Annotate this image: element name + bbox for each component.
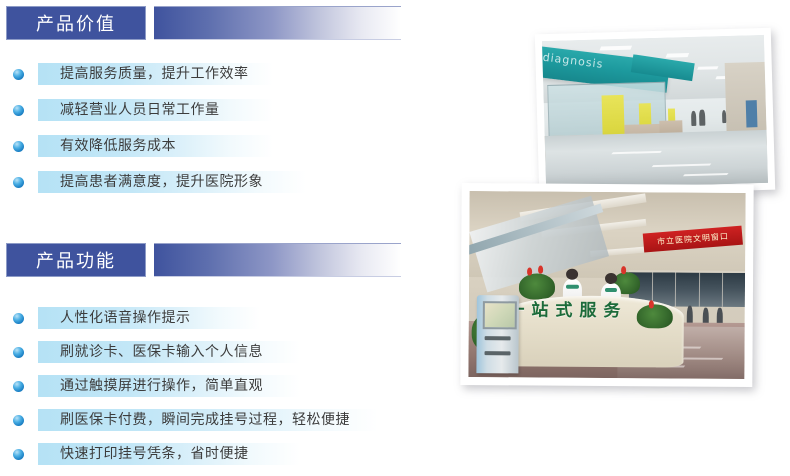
section-header-product-value: 产品价值 [6, 6, 401, 40]
kiosk-card-slot[interactable] [484, 336, 511, 340]
window-divider [722, 273, 723, 306]
kiosk-screen[interactable] [483, 302, 517, 330]
section-title-box-product-function: 产品功能 [6, 243, 146, 277]
bullet-row: 有效降低服务成本 [0, 135, 306, 157]
lobby-flower [621, 266, 626, 274]
lobby-flower [527, 268, 532, 276]
photo-hospital-corridor: diagnosis [535, 28, 775, 197]
bullet-pill: 刷就诊卡、医保卡输入个人信息 [38, 341, 300, 363]
section-header-gradient-bar-product-function [154, 243, 401, 277]
bullet-row: 通过触摸屏进行操作，简单直观 [0, 375, 378, 397]
bullet-row: 提高服务质量，提升工作效率 [0, 63, 306, 85]
section-header-product-function: 产品功能 [6, 243, 401, 277]
staff-head [605, 273, 617, 284]
bullet-pill: 人性化语音操作提示 [38, 307, 260, 329]
bullet-dot-icon [13, 177, 24, 188]
bullet-text: 人性化语音操作提示 [60, 311, 191, 325]
bullet-dot-icon [13, 105, 24, 116]
section-header-gradient-bar-product-value [154, 6, 401, 40]
bullet-row: 快速打印挂号凭条，省时便捷 [0, 443, 378, 465]
bullet-dot-icon [13, 313, 24, 324]
bullet-pill: 提高服务质量，提升工作效率 [38, 63, 273, 85]
corridor-person [691, 111, 697, 126]
bullet-text: 有效降低服务成本 [60, 139, 176, 153]
bullet-pill: 减轻营业人员日常工作量 [38, 99, 273, 121]
bullet-dot-icon [13, 449, 24, 460]
bullet-row: 刷就诊卡、医保卡输入个人信息 [0, 341, 378, 363]
bullet-text: 提高服务质量，提升工作效率 [60, 67, 249, 81]
corridor-door [746, 100, 758, 127]
bullet-dot-icon [13, 141, 24, 152]
staff-scarf [605, 288, 617, 292]
section-title-product-value: 产品价值 [36, 10, 116, 36]
corridor-signage-text: diagnosis [542, 51, 604, 71]
corridor-person [699, 109, 705, 125]
section-title-product-function: 产品功能 [36, 247, 116, 273]
bullet-text: 刷就诊卡、医保卡输入个人信息 [60, 345, 263, 359]
lobby-flower [538, 266, 543, 274]
window-divider [698, 273, 699, 306]
corridor-person [722, 110, 727, 123]
lobby-plant [637, 304, 673, 328]
self-service-kiosk[interactable] [477, 295, 519, 373]
bullet-pill: 刷医保卡付费，瞬间完成挂号过程，轻松便捷 [38, 409, 378, 431]
bullet-pill: 有效降低服务成本 [38, 135, 273, 157]
bullet-dot-icon [13, 347, 24, 358]
bullet-text: 通过触摸屏进行操作，简单直观 [60, 379, 263, 393]
section-title-box-product-value: 产品价值 [6, 6, 146, 40]
bullet-pill: 快速打印挂号凭条，省时便捷 [38, 443, 300, 465]
bullet-row: 减轻营业人员日常工作量 [0, 99, 306, 121]
bullet-list-product-value: 提高服务质量，提升工作效率 减轻营业人员日常工作量 有效降低服务成本 提高患者满… [0, 63, 306, 193]
bullet-text: 快速打印挂号凭条，省时便捷 [60, 447, 249, 461]
lobby-banner-text: 市立医院文明窗口 [657, 231, 730, 248]
kiosk-printer-slot[interactable] [484, 352, 511, 356]
bullet-pill: 提高患者满意度，提升医院形象 [38, 171, 306, 193]
slide-canvas: 产品价值 提高服务质量，提升工作效率 减轻营业人员日常工作量 有效降低服务成本 [0, 0, 790, 476]
lobby-desk-text: 一站式服务 [507, 295, 627, 321]
bullet-pill: 通过触摸屏进行操作，简单直观 [38, 375, 300, 397]
corridor-floor [545, 130, 768, 189]
photo-corridor-image: diagnosis [542, 35, 768, 189]
window-divider [675, 273, 676, 306]
bullet-text: 提高患者满意度，提升医院形象 [60, 175, 263, 189]
bullet-list-product-function: 人性化语音操作提示 刷就诊卡、医保卡输入个人信息 通过触摸屏进行操作，简单直观 … [0, 307, 378, 465]
bullet-row: 提高患者满意度，提升医院形象 [0, 171, 306, 193]
staff-head [567, 269, 579, 280]
photo-lobby-image: 市立医院文明窗口 [468, 191, 745, 379]
bullet-dot-icon [13, 69, 24, 80]
lobby-flower [649, 300, 654, 308]
ceiling-light [698, 66, 719, 70]
photo-hospital-lobby: 市立医院文明窗口 [460, 183, 753, 387]
bullet-row: 人性化语音操作提示 [0, 307, 378, 329]
staff-scarf [566, 284, 578, 288]
bullet-dot-icon [13, 415, 24, 426]
bullet-text: 刷医保卡付费，瞬间完成挂号过程，轻松便捷 [60, 413, 350, 427]
bullet-row: 刷医保卡付费，瞬间完成挂号过程，轻松便捷 [0, 409, 378, 431]
bullet-text: 减轻营业人员日常工作量 [60, 103, 220, 117]
bullet-dot-icon [13, 381, 24, 392]
